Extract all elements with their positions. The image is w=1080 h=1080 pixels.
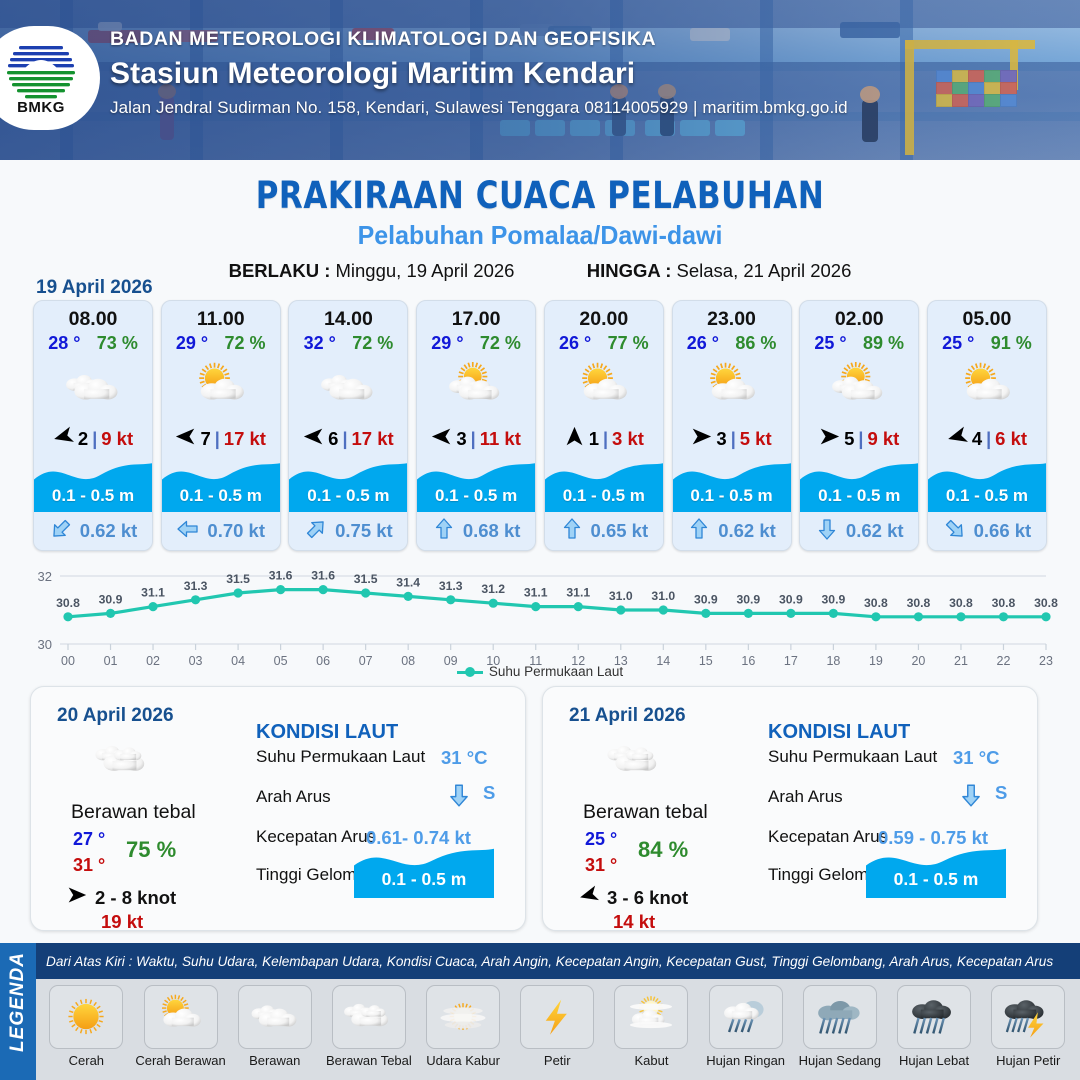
card-wind-row: 1 | 3 kt xyxy=(545,422,663,456)
card-temperature: 29 ° xyxy=(431,333,463,354)
current-direction-arrow-icon xyxy=(687,517,711,546)
svg-text:30.9: 30.9 xyxy=(99,592,123,606)
svg-text:30.9: 30.9 xyxy=(736,592,760,606)
card-wind-row: 5 | 9 kt xyxy=(800,422,918,456)
card-time: 23.00 xyxy=(673,301,791,331)
card-humidity: 91 % xyxy=(991,333,1032,354)
bmkg-logo-mark: BMKG xyxy=(0,36,83,120)
svg-text:30: 30 xyxy=(38,637,52,652)
station-name: Stasiun Meteorologi Maritim Kendari xyxy=(110,56,848,91)
card-wave: 0.1 - 0.5 m xyxy=(417,456,535,512)
svg-text:31.1: 31.1 xyxy=(566,586,590,600)
svg-text:31.0: 31.0 xyxy=(651,589,675,603)
card-humidity: 73 % xyxy=(97,333,138,354)
legend-item: Kabut xyxy=(605,985,698,1068)
wind-direction-arrow-icon xyxy=(947,426,968,452)
hour-card: 08.00 28 ° 73 % xyxy=(33,300,153,551)
legend-item: Cerah Berawan xyxy=(134,985,227,1068)
organization-name: BADAN METEOROLOGI KLIMATOLOGI DAN GEOFIS… xyxy=(110,30,848,50)
weather-hujan-lebat-icon xyxy=(897,985,971,1049)
hour-card: 20.00 26 ° 77 % xyxy=(544,300,664,551)
card-current-speed: 0.65 kt xyxy=(591,520,649,542)
panel-wind: 2 - 8 knot xyxy=(95,887,176,909)
panel-temp-min: 27 ° xyxy=(73,829,105,850)
card-humidity: 77 % xyxy=(608,333,649,354)
card-wave-height: 0.1 - 0.5 m xyxy=(928,486,1046,506)
card-temperature: 29 ° xyxy=(176,333,208,354)
current-direction-arrow-icon xyxy=(432,517,456,546)
current-direction-arrow-icon xyxy=(304,517,328,546)
panel-row-label: Suhu Permukaan Laut xyxy=(768,747,937,767)
panel-date: 20 April 2026 xyxy=(57,705,174,727)
card-temperature: 32 ° xyxy=(304,333,336,354)
card-wind-separator: | xyxy=(986,429,991,450)
card-current-speed: 0.66 kt xyxy=(974,520,1032,542)
card-current-row: 0.65 kt xyxy=(545,512,663,550)
card-wave: 0.1 - 0.5 m xyxy=(289,456,407,512)
card-wind-row: 6 | 17 kt xyxy=(289,422,407,456)
card-time: 08.00 xyxy=(34,301,152,331)
card-wind-speed: 3 xyxy=(456,428,466,450)
weather-hujan-ringan-icon xyxy=(709,985,783,1049)
card-temperature: 28 ° xyxy=(48,333,80,354)
legend-item-label: Udara Kabur xyxy=(426,1053,500,1068)
hingga-value: Selasa, 21 April 2026 xyxy=(677,260,852,281)
card-gust: 3 kt xyxy=(612,428,644,450)
legend-item-label: Hujan Lebat xyxy=(899,1053,969,1068)
weather-cerah-berawan-icon xyxy=(928,356,1046,422)
panel-sst-value: 31 °C xyxy=(441,747,487,769)
card-temp-humidity: 25 ° 89 % xyxy=(800,331,918,354)
card-wind-speed: 4 xyxy=(972,428,982,450)
weather-cerah-berawan-2-icon xyxy=(800,356,918,422)
card-gust: 9 kt xyxy=(867,428,899,450)
card-current-row: 0.68 kt xyxy=(417,512,535,550)
weather-berawan-tebal-icon xyxy=(332,985,406,1049)
card-gust: 17 kt xyxy=(352,428,394,450)
card-wind-speed: 6 xyxy=(328,428,338,450)
card-time: 02.00 xyxy=(800,301,918,331)
panel-wave-box: 0.1 - 0.5 m xyxy=(354,842,494,898)
legend-item-label: Hujan Ringan xyxy=(706,1053,785,1068)
current-direction-arrow-icon xyxy=(943,517,967,546)
card-current-row: 0.75 kt xyxy=(289,512,407,550)
weather-hujan-petir-icon xyxy=(991,985,1065,1049)
card-humidity: 72 % xyxy=(480,333,521,354)
weather-cerah-berawan-2-icon xyxy=(417,356,535,422)
svg-text:31.6: 31.6 xyxy=(311,569,335,583)
weather-petir-icon xyxy=(520,985,594,1049)
svg-text:30.8: 30.8 xyxy=(1034,596,1058,610)
wind-direction-arrow-icon xyxy=(67,885,87,910)
wind-direction-arrow-icon xyxy=(431,426,452,452)
card-wind-row: 4 | 6 kt xyxy=(928,422,1046,456)
card-current-speed: 0.70 kt xyxy=(207,520,265,542)
legend-item-label: Kabut xyxy=(634,1053,668,1068)
card-wind-speed: 3 xyxy=(716,428,726,450)
legend-side-label: LEGENDA xyxy=(7,952,29,1052)
card-temperature: 25 ° xyxy=(942,333,974,354)
card-current-row: 0.62 kt xyxy=(673,512,791,550)
hourly-forecast-cards: 08.00 28 ° 73 % xyxy=(33,300,1047,551)
weather-berawan-tebal-icon xyxy=(93,735,153,792)
svg-text:31.4: 31.4 xyxy=(396,575,420,589)
page-subtitle: Pelabuhan Pomalaa/Dawi-dawi xyxy=(22,220,1059,251)
chart-legend-label: Suhu Permukaan Laut xyxy=(489,664,623,679)
legend-note: Dari Atas Kiri : Waktu, Suhu Udara, Kele… xyxy=(36,943,1080,979)
weather-cerah-berawan-icon xyxy=(545,356,663,422)
hour-card: 14.00 32 ° 72 % xyxy=(288,300,408,551)
card-humidity: 72 % xyxy=(225,333,266,354)
card-humidity: 86 % xyxy=(735,333,776,354)
legend-section: LEGENDA Dari Atas Kiri : Waktu, Suhu Uda… xyxy=(0,943,1080,1080)
card-wind-separator: | xyxy=(92,429,97,450)
card-wind-speed: 7 xyxy=(200,428,210,450)
wind-direction-arrow-icon xyxy=(579,885,599,910)
card-current-row: 0.66 kt xyxy=(928,512,1046,550)
card-temp-humidity: 29 ° 72 % xyxy=(162,331,280,354)
card-wind-row: 2 | 9 kt xyxy=(34,422,152,456)
weather-berawan-icon xyxy=(238,985,312,1049)
svg-text:31.6: 31.6 xyxy=(269,569,293,583)
current-direction-arrow-icon xyxy=(176,517,200,546)
card-current-speed: 0.62 kt xyxy=(80,520,138,542)
panel-sea-title: KONDISI LAUT xyxy=(768,721,910,744)
current-direction-arrow-icon xyxy=(446,782,472,813)
panel-temp-max: 31 ° xyxy=(73,855,105,876)
legend-item: Berawan Tebal xyxy=(323,985,416,1068)
panel-row-label: Suhu Permukaan Laut xyxy=(256,747,425,767)
panel-gust: 19 kt xyxy=(101,911,143,933)
svg-text:30.8: 30.8 xyxy=(864,596,888,610)
legend-item: Hujan Petir xyxy=(982,985,1075,1068)
card-wind-separator: | xyxy=(858,429,863,450)
card-wind-separator: | xyxy=(471,429,476,450)
svg-text:31.3: 31.3 xyxy=(184,579,208,593)
chart-legend: Suhu Permukaan Laut xyxy=(0,664,1080,679)
legend-item-label: Petir xyxy=(544,1053,571,1068)
card-wave-height: 0.1 - 0.5 m xyxy=(34,486,152,506)
hour-card: 23.00 26 ° 86 % xyxy=(672,300,792,551)
card-wind-speed: 5 xyxy=(844,428,854,450)
legend-item: Hujan Ringan xyxy=(699,985,792,1068)
panel-gust: 14 kt xyxy=(613,911,655,933)
panel-current-direction: S xyxy=(995,782,1007,804)
card-wave: 0.1 - 0.5 m xyxy=(800,456,918,512)
card-temp-humidity: 26 ° 77 % xyxy=(545,331,663,354)
card-gust: 9 kt xyxy=(101,428,133,450)
legend-item-label: Hujan Petir xyxy=(996,1053,1060,1068)
svg-text:31.1: 31.1 xyxy=(141,586,165,600)
card-gust: 6 kt xyxy=(995,428,1027,450)
svg-text:30.8: 30.8 xyxy=(907,596,931,610)
legend-item: Berawan xyxy=(228,985,321,1068)
panel-row-label: Arah Arus xyxy=(256,787,331,807)
panel-sea-title: KONDISI LAUT xyxy=(256,721,398,744)
hour-card: 02.00 25 ° 89 % xyxy=(799,300,919,551)
wind-direction-arrow-icon xyxy=(564,426,585,452)
svg-text:30.8: 30.8 xyxy=(56,596,80,610)
card-wave-height: 0.1 - 0.5 m xyxy=(162,486,280,506)
chart-legend-marker xyxy=(457,671,483,674)
card-wave-height: 0.1 - 0.5 m xyxy=(545,486,663,506)
current-direction-arrow-icon xyxy=(49,517,73,546)
day-panel: 21 April 2026 xyxy=(542,686,1038,931)
svg-text:30.8: 30.8 xyxy=(949,596,973,610)
hour-card: 11.00 29 ° 72 % xyxy=(161,300,281,551)
card-wind-speed: 1 xyxy=(589,428,599,450)
header-banner: BMKG BADAN METEOROLOGI KLIMATOLOGI DAN G… xyxy=(0,0,1080,160)
weather-hujan-sedang-icon xyxy=(803,985,877,1049)
card-wave: 0.1 - 0.5 m xyxy=(162,456,280,512)
svg-text:30.9: 30.9 xyxy=(779,592,803,606)
card-wave: 0.1 - 0.5 m xyxy=(34,456,152,512)
legend-item: Hujan Sedang xyxy=(794,985,887,1068)
wind-direction-arrow-icon xyxy=(53,426,74,452)
card-temp-humidity: 32 ° 72 % xyxy=(289,331,407,354)
svg-text:31.1: 31.1 xyxy=(524,586,548,600)
card-humidity: 72 % xyxy=(352,333,393,354)
legend-item: Hujan Lebat xyxy=(888,985,981,1068)
page-title-block: PRAKIRAAN CUACA PELABUHAN Pelabuhan Poma… xyxy=(0,174,1080,282)
hingga-label: HINGGA : xyxy=(587,260,672,281)
panel-wind-row: 2 - 8 knot xyxy=(67,885,176,910)
panel-condition: Berawan tebal xyxy=(71,801,196,824)
weather-berawan-icon xyxy=(289,356,407,422)
card-current-speed: 0.62 kt xyxy=(718,520,776,542)
legend-item-label: Cerah xyxy=(69,1053,104,1068)
svg-text:31.5: 31.5 xyxy=(354,572,378,586)
legend-item: Cerah xyxy=(40,985,133,1068)
card-current-speed: 0.75 kt xyxy=(335,520,393,542)
day-panel: 20 April 2026 xyxy=(30,686,526,931)
weather-cerah-icon xyxy=(49,985,123,1049)
card-temp-humidity: 28 ° 73 % xyxy=(34,331,152,354)
panel-current-direction: S xyxy=(483,782,495,804)
panel-humidity: 84 % xyxy=(638,837,688,863)
weather-berawan-icon xyxy=(34,356,152,422)
card-current-speed: 0.62 kt xyxy=(846,520,904,542)
card-wave-height: 0.1 - 0.5 m xyxy=(673,486,791,506)
card-wave: 0.1 - 0.5 m xyxy=(928,456,1046,512)
current-direction-arrow-icon xyxy=(958,782,984,813)
card-current-row: 0.62 kt xyxy=(800,512,918,550)
wind-direction-arrow-icon xyxy=(303,426,324,452)
weather-udara-kabur-icon xyxy=(426,985,500,1049)
weather-cerah-berawan-icon xyxy=(162,356,280,422)
current-direction-arrow-icon xyxy=(815,517,839,546)
card-time: 14.00 xyxy=(289,301,407,331)
card-gust: 11 kt xyxy=(480,428,521,450)
card-temp-humidity: 29 ° 72 % xyxy=(417,331,535,354)
card-wind-speed: 2 xyxy=(78,428,88,450)
panel-wind-row: 3 - 6 knot xyxy=(579,885,688,910)
banner-text-block: BADAN METEOROLOGI KLIMATOLOGI DAN GEOFIS… xyxy=(110,30,848,118)
legend-item: Udara Kabur xyxy=(417,985,510,1068)
card-wind-separator: | xyxy=(603,429,608,450)
panel-sst-value: 31 °C xyxy=(953,747,999,769)
panel-humidity: 75 % xyxy=(126,837,176,863)
svg-text:30.8: 30.8 xyxy=(992,596,1016,610)
wind-direction-arrow-icon xyxy=(819,426,840,452)
card-wind-separator: | xyxy=(215,429,220,450)
daily-forecast-panels: 20 April 2026 xyxy=(30,686,1050,931)
legend-item: Petir xyxy=(511,985,604,1068)
panel-temp-max: 31 ° xyxy=(585,855,617,876)
panel-condition: Berawan tebal xyxy=(583,801,708,824)
bmkg-logo: BMKG xyxy=(0,26,100,130)
panel-temp-min: 25 ° xyxy=(585,829,617,850)
card-temperature: 26 ° xyxy=(687,333,719,354)
legend-item-label: Berawan xyxy=(249,1053,300,1068)
card-time: 17.00 xyxy=(417,301,535,331)
panel-wind: 3 - 6 knot xyxy=(607,887,688,909)
panel-wave-box: 0.1 - 0.5 m xyxy=(866,842,1006,898)
svg-text:32: 32 xyxy=(38,569,52,584)
card-temp-humidity: 25 ° 91 % xyxy=(928,331,1046,354)
card-wind-separator: | xyxy=(731,429,736,450)
card-time: 11.00 xyxy=(162,301,280,331)
berlaku-label: BERLAKU : xyxy=(229,260,331,281)
sea-temperature-chart: 3032000102030405060708091011121314151617… xyxy=(20,558,1060,678)
card-time: 20.00 xyxy=(545,301,663,331)
card-current-speed: 0.68 kt xyxy=(463,520,521,542)
weather-berawan-tebal-icon xyxy=(605,735,665,792)
legend-item-label: Hujan Sedang xyxy=(799,1053,881,1068)
card-temp-humidity: 26 ° 86 % xyxy=(673,331,791,354)
card-current-row: 0.62 kt xyxy=(34,512,152,550)
card-temperature: 26 ° xyxy=(559,333,591,354)
page-title: PRAKIRAAN CUACA PELABUHAN xyxy=(38,174,1042,217)
svg-text:30.9: 30.9 xyxy=(822,592,846,606)
card-gust: 17 kt xyxy=(224,428,266,450)
panel-row-label: Arah Arus xyxy=(768,787,843,807)
card-wave-height: 0.1 - 0.5 m xyxy=(800,486,918,506)
validity-row: BERLAKU : Minggu, 19 April 2026 HINGGA :… xyxy=(0,260,1080,282)
weather-cerah-berawan-icon xyxy=(673,356,791,422)
card-gust: 5 kt xyxy=(740,428,772,450)
panel-date: 21 April 2026 xyxy=(569,705,686,727)
card-wave: 0.1 - 0.5 m xyxy=(545,456,663,512)
legend-items: Cerah Cerah Berawan xyxy=(40,985,1076,1068)
forecast-date-label: 19 April 2026 xyxy=(36,277,153,299)
card-wind-separator: | xyxy=(342,429,347,450)
card-wave: 0.1 - 0.5 m xyxy=(673,456,791,512)
svg-text:31.2: 31.2 xyxy=(481,582,505,596)
wind-direction-arrow-icon xyxy=(175,426,196,452)
panel-wave-height: 0.1 - 0.5 m xyxy=(354,869,494,890)
card-time: 05.00 xyxy=(928,301,1046,331)
legend-side-bar: LEGENDA xyxy=(0,943,36,1080)
card-current-row: 0.70 kt xyxy=(162,512,280,550)
legend-item-label: Cerah Berawan xyxy=(135,1053,225,1068)
card-wave-height: 0.1 - 0.5 m xyxy=(289,486,407,506)
svg-text:31.3: 31.3 xyxy=(439,579,463,593)
panel-wave-height: 0.1 - 0.5 m xyxy=(866,869,1006,890)
station-address: Jalan Jendral Sudirman No. 158, Kendari,… xyxy=(110,98,848,118)
svg-text:30.9: 30.9 xyxy=(694,592,718,606)
hour-card: 05.00 25 ° 91 % xyxy=(927,300,1047,551)
svg-text:31.5: 31.5 xyxy=(226,572,250,586)
card-wind-row: 7 | 17 kt xyxy=(162,422,280,456)
weather-cerah-berawan-icon xyxy=(144,985,218,1049)
card-wind-row: 3 | 11 kt xyxy=(417,422,535,456)
card-wave-height: 0.1 - 0.5 m xyxy=(417,486,535,506)
weather-kabut-icon xyxy=(614,985,688,1049)
wind-direction-arrow-icon xyxy=(691,426,712,452)
bmkg-logo-text: BMKG xyxy=(17,99,65,116)
svg-text:31.0: 31.0 xyxy=(609,589,633,603)
hour-card: 17.00 29 ° 72 % xyxy=(416,300,536,551)
card-temperature: 25 ° xyxy=(814,333,846,354)
berlaku-value: Minggu, 19 April 2026 xyxy=(336,260,515,281)
current-direction-arrow-icon xyxy=(560,517,584,546)
card-humidity: 89 % xyxy=(863,333,904,354)
card-wind-row: 3 | 5 kt xyxy=(673,422,791,456)
legend-item-label: Berawan Tebal xyxy=(326,1053,412,1068)
